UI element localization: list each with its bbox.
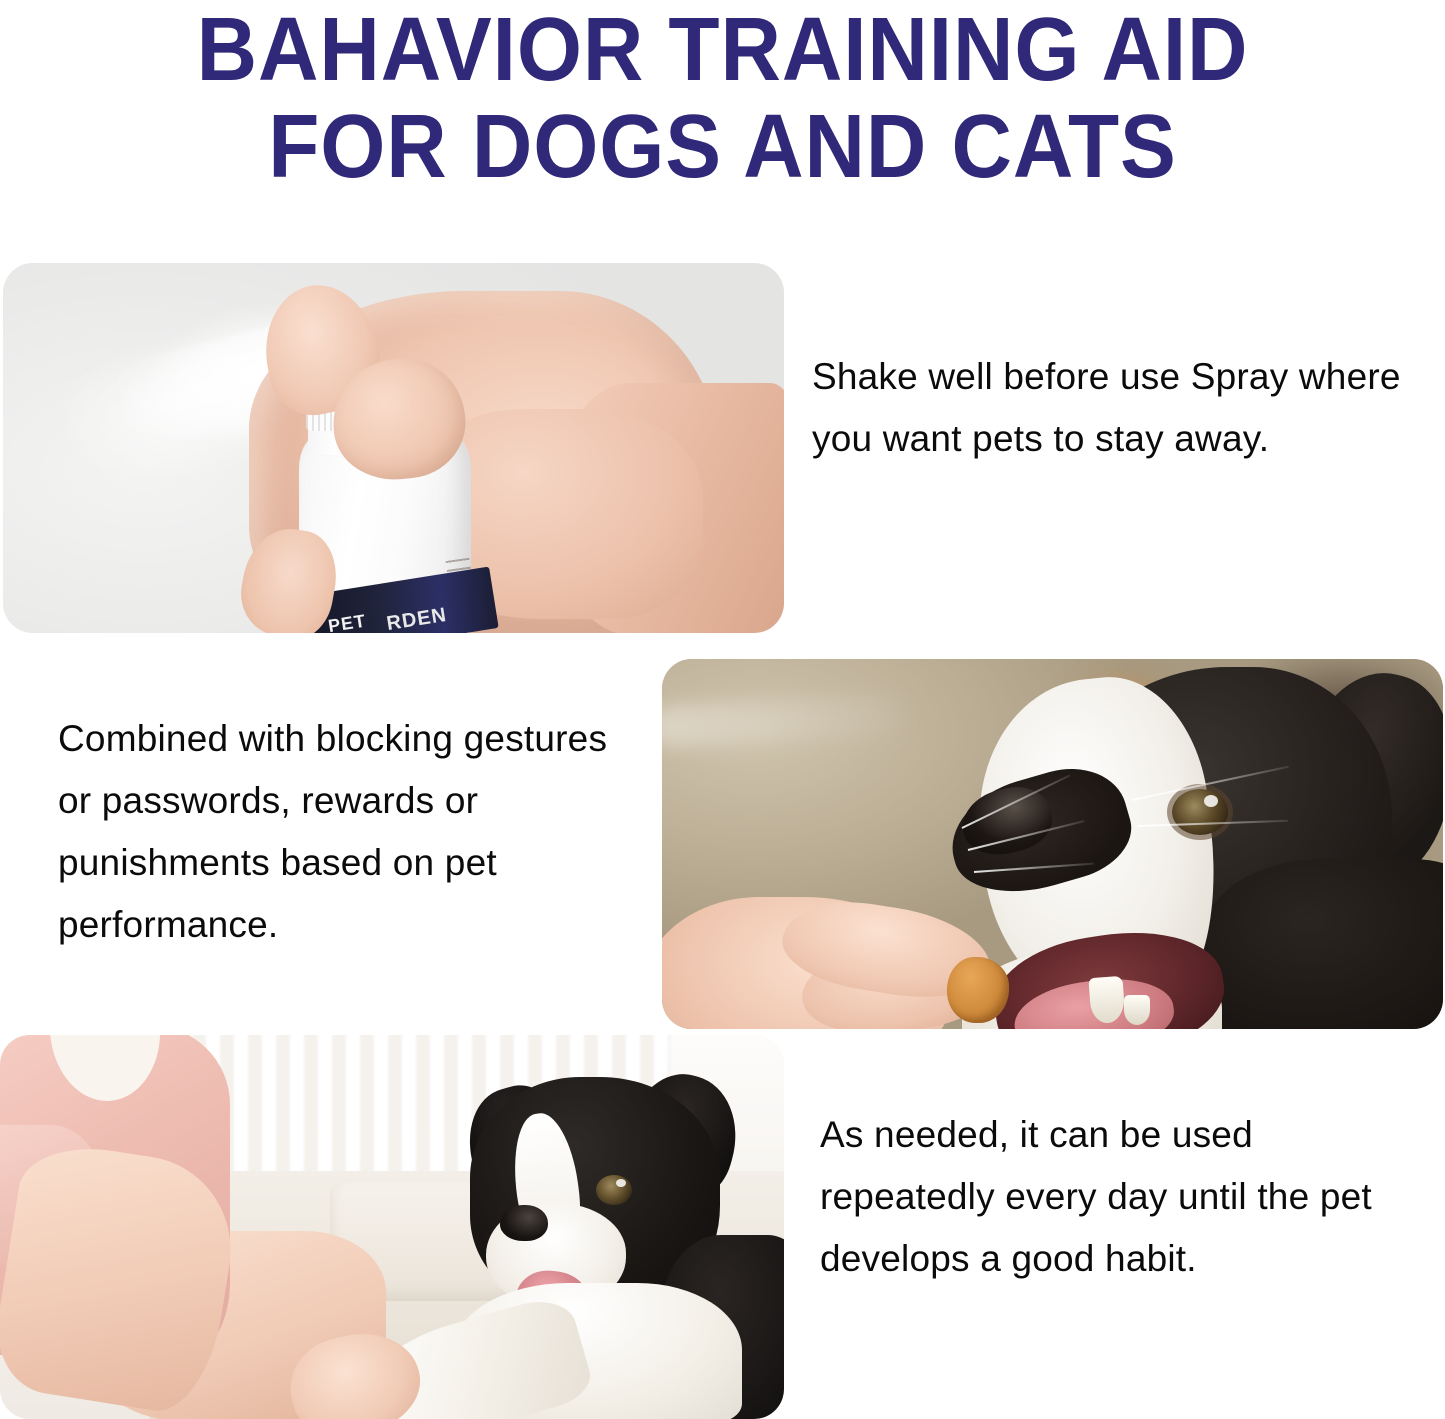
dog-taking-treat-photo: [662, 659, 1443, 1029]
dog-tooth-small-shape: [1124, 995, 1150, 1025]
dog-eye-icon: [1172, 789, 1228, 835]
instruction-text-repeat-body: As needed, it can be used repeatedly eve…: [820, 1104, 1400, 1290]
dog-eye-icon: [596, 1175, 632, 1205]
photo-content: [662, 659, 1443, 1029]
page-title: BAHAVIOR TRAINING AID FOR DOGS AND CATS: [0, 2, 1445, 196]
instruction-text-spray: Shake well before use Spray where you wa…: [812, 346, 1412, 470]
instruction-text-repeat: As needed, it can be used repeatedly eve…: [820, 1104, 1400, 1290]
dog-neck-shape: [1202, 859, 1443, 1029]
page-title-line-1: BAHAVIOR TRAINING AID: [51, 2, 1395, 99]
instruction-text-training-body: Combined with blocking gestures or passw…: [58, 708, 648, 956]
page-title-line-2: FOR DOGS AND CATS: [51, 99, 1395, 196]
hand-spraying-bottle-photo: PET RDEN: [3, 263, 784, 633]
bottle-label-text-secondary: RDEN: [385, 604, 449, 633]
photo-content: PET RDEN: [3, 263, 784, 633]
instruction-text-training: Combined with blocking gestures or passw…: [58, 708, 648, 956]
bottle-label-text-primary: PET: [327, 611, 368, 633]
instruction-text-spray-body: Shake well before use Spray where you wa…: [812, 346, 1412, 470]
photo-content: [0, 1035, 784, 1419]
dog-nose-icon: [500, 1205, 548, 1241]
woman-shaking-paw-photo: [0, 1035, 784, 1419]
dog-treat-icon: [947, 957, 1009, 1023]
